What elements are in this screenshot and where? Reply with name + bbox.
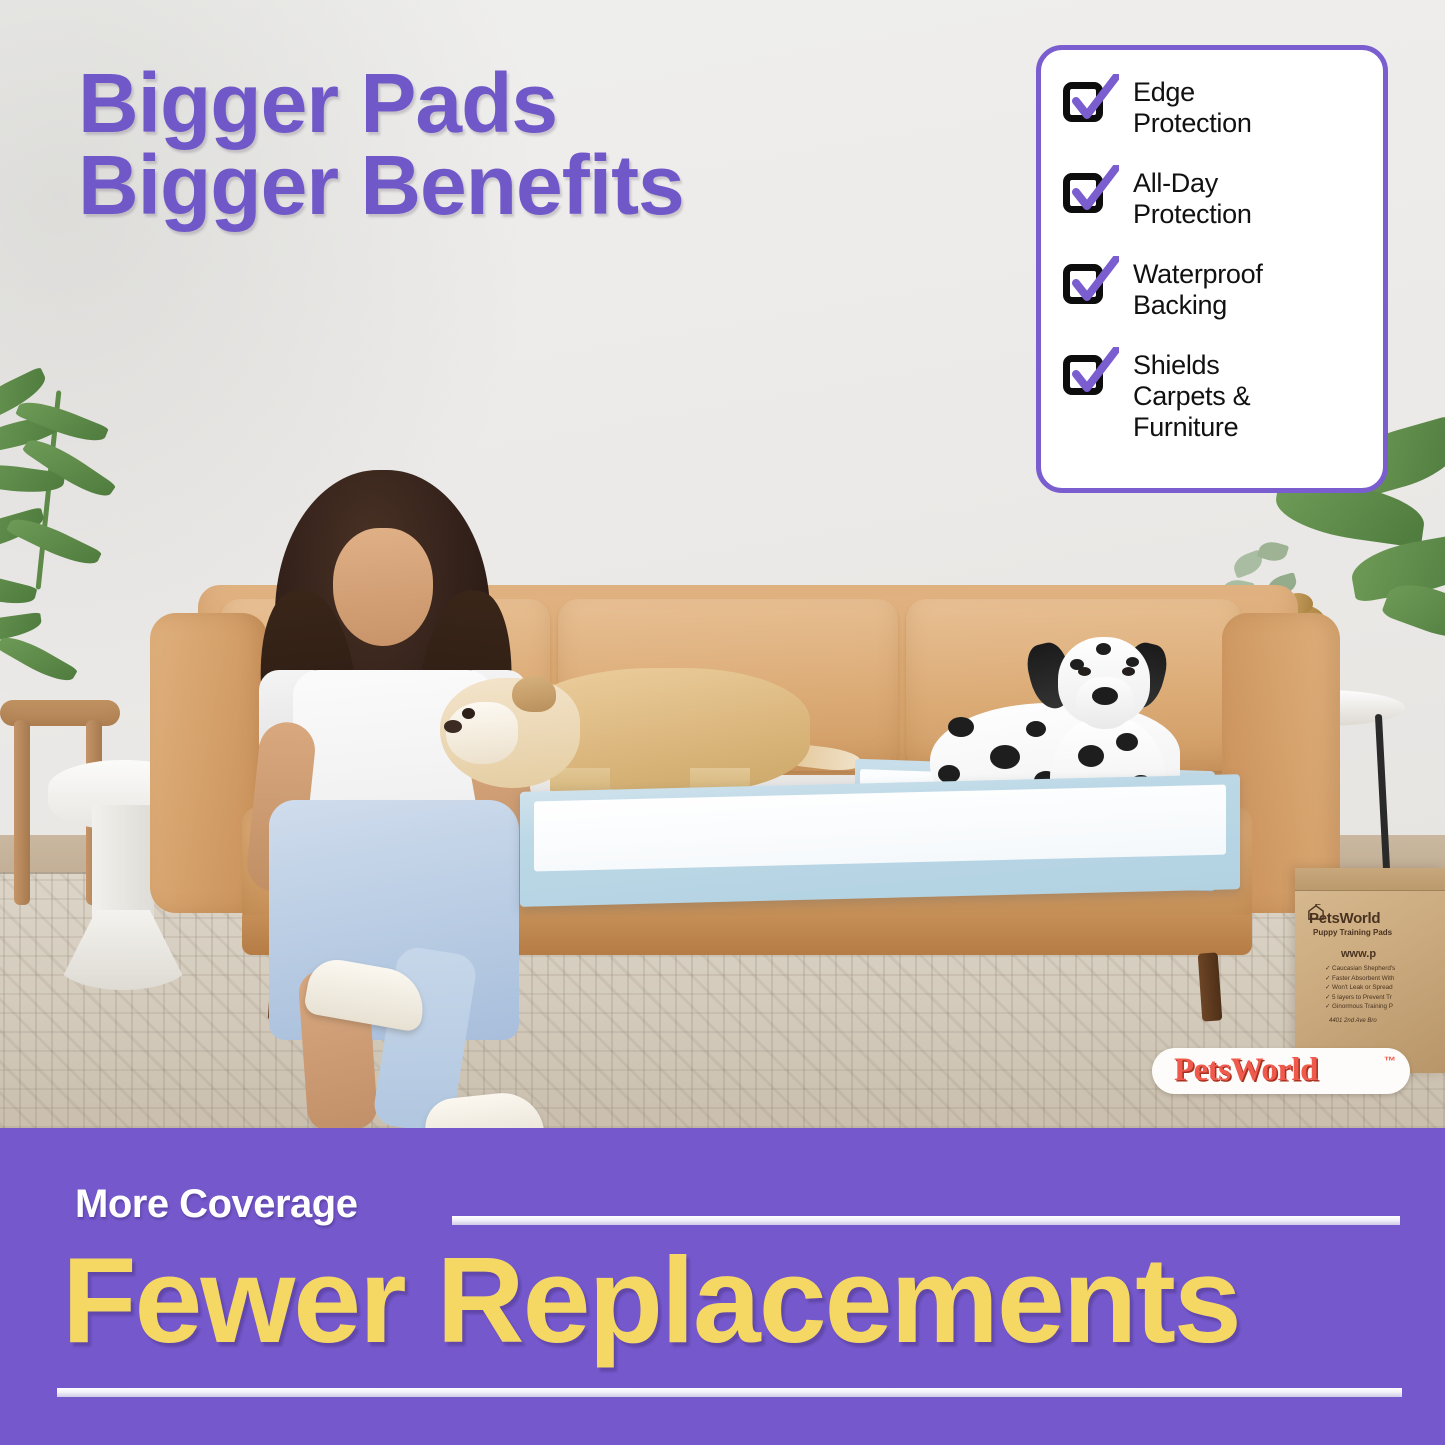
headline-line-1: Bigger Pads <box>78 56 557 150</box>
banner-eyebrow: More Coverage <box>75 1182 357 1227</box>
petsworld-logo: PetsWorld ™ <box>1152 1048 1410 1094</box>
feature-label: Waterproof Backing <box>1133 258 1263 321</box>
advertisement-canvas: PetsWorld Puppy Training Pads www.p ✓ Ca… <box>0 0 1445 1445</box>
box-subtitle: Puppy Training Pads <box>1313 928 1392 937</box>
feature-item-waterproof-backing: Waterproof Backing <box>1061 258 1365 321</box>
checkbox-checked-icon <box>1061 167 1117 219</box>
feature-item-edge-protection: Edge Protection <box>1061 76 1365 139</box>
box-bullet: ✓ Caucasian Shepherd's <box>1325 964 1395 974</box>
box-website: www.p <box>1341 948 1376 960</box>
banner-divider-top <box>452 1216 1400 1225</box>
banner-headline: Fewer Replacements <box>62 1232 1402 1369</box>
box-bullet: ✓ 5 layers to Prevent Tr <box>1325 993 1395 1003</box>
box-address: 4401 2nd Ave Bro <box>1329 1018 1377 1024</box>
brand-name: PetsWorld <box>1174 1052 1318 1089</box>
feature-label: All-Day Protection <box>1133 167 1252 230</box>
box-bullet: ✓ Won't Leak or Spread <box>1325 983 1395 993</box>
box-bullet: ✓ Ginormous Training P <box>1325 1002 1395 1012</box>
checkbox-checked-icon <box>1061 258 1117 310</box>
feature-item-all-day-protection: All-Day Protection <box>1061 167 1365 230</box>
page-title: Bigger Pads Bigger Benefits <box>78 62 908 227</box>
trademark-symbol: ™ <box>1384 1054 1396 1068</box>
box-bullet: ✓ Faster Absorbent With <box>1325 974 1395 984</box>
headline-line-2: Bigger Benefits <box>78 144 908 226</box>
feature-label: Shields Carpets & Furniture <box>1133 349 1250 443</box>
feature-checklist-card: Edge Protection All-Day Protection Water… <box>1036 45 1388 493</box>
product-cardboard-box: PetsWorld Puppy Training Pads www.p ✓ Ca… <box>1295 868 1445 1073</box>
training-pad-main <box>520 774 1240 907</box>
feature-item-shields-carpets-furniture: Shields Carpets & Furniture <box>1061 349 1365 443</box>
banner-divider-bottom <box>57 1388 1402 1397</box>
box-feature-list: ✓ Caucasian Shepherd's ✓ Faster Absorben… <box>1325 964 1395 1012</box>
feature-label: Edge Protection <box>1133 76 1252 139</box>
checkbox-checked-icon <box>1061 349 1117 401</box>
checkbox-checked-icon <box>1061 76 1117 128</box>
box-brand: PetsWorld <box>1309 910 1380 927</box>
